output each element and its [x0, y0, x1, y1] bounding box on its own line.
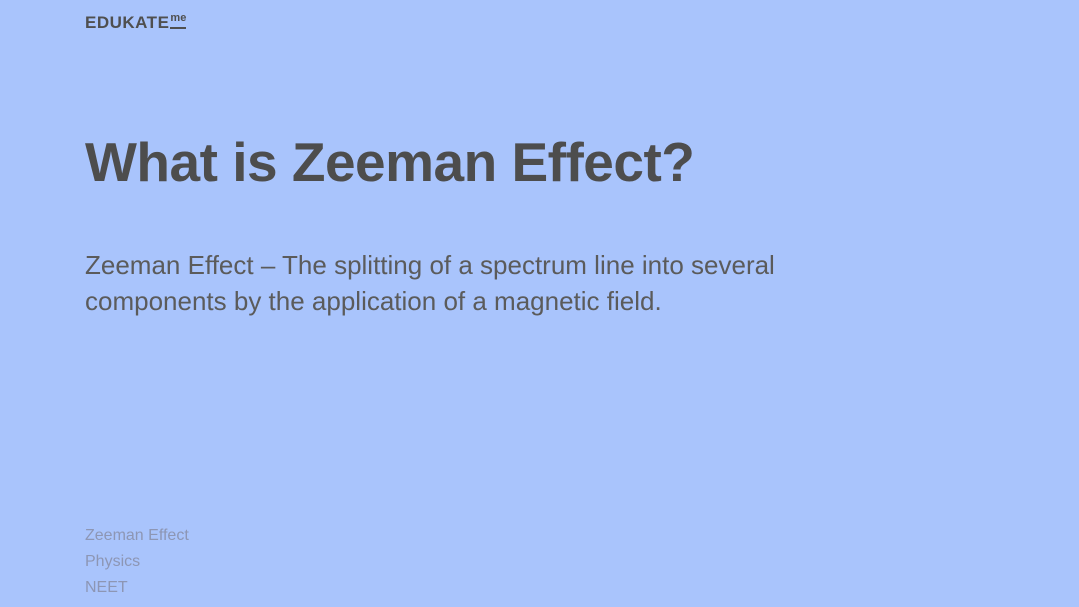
- brand-suffix-text: me: [170, 13, 186, 29]
- slide-title: What is Zeeman Effect?: [85, 132, 985, 193]
- tag-item: Physics: [85, 549, 189, 575]
- edukate-logo: EDUKATE me: [85, 14, 186, 31]
- brand-name-text: EDUKATE: [85, 14, 169, 31]
- slide-body-text: Zeeman Effect – The splitting of a spect…: [85, 248, 860, 320]
- tag-item: Zeeman Effect: [85, 523, 189, 549]
- tag-item: NEET: [85, 575, 189, 601]
- presentation-slide: EDUKATE me What is Zeeman Effect? Zeeman…: [0, 0, 1079, 607]
- slide-tag-list: Zeeman Effect Physics NEET: [85, 523, 189, 601]
